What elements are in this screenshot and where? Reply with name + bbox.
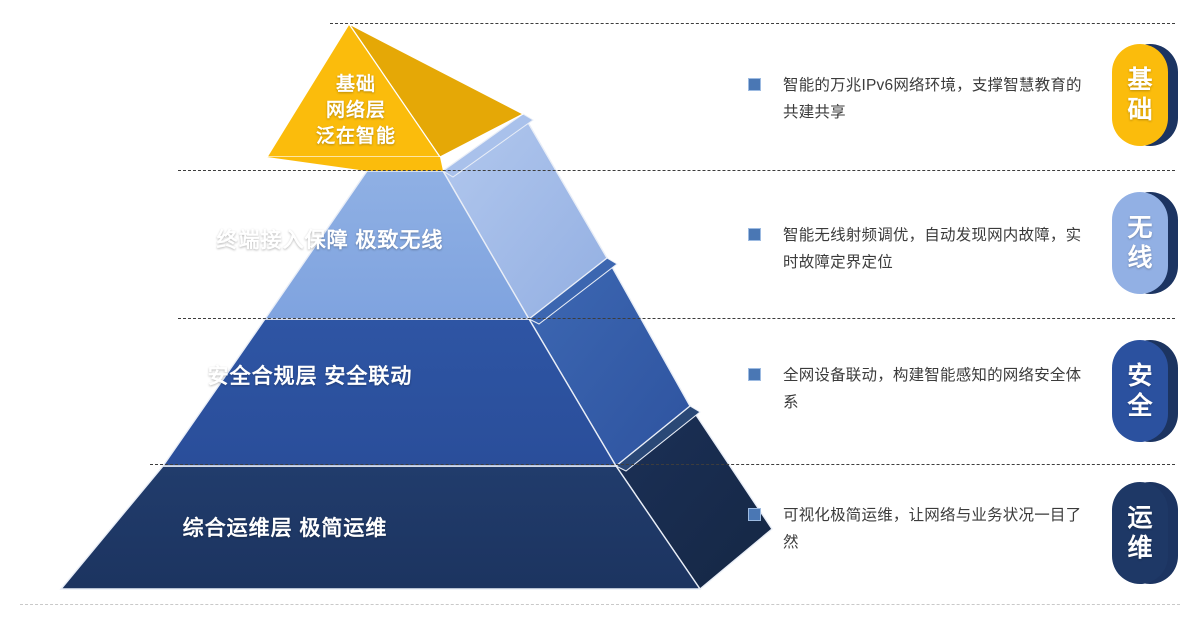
description-row-wireless: 智能无线射频调优，自动发现网内故障，实时故障定界定位 (748, 222, 1088, 276)
description-text-foundation: 智能的万兆IPv6网络环境，支撑智慧教育的共建共享 (783, 72, 1088, 126)
divider-wireless-security (178, 318, 1175, 319)
bullet-square-icon (748, 368, 761, 381)
description-row-foundation: 智能的万兆IPv6网络环境，支撑智慧教育的共建共享 (748, 72, 1088, 126)
badge-foundation[interactable]: 基 础 (1112, 44, 1168, 146)
badge-foundation-char2: 础 (1127, 96, 1152, 124)
description-row-security: 全网设备联动，构建智能感知的网络安全体系 (748, 362, 1088, 416)
description-row-operations: 可视化极简运维，让网络与业务状况一目了然 (748, 502, 1088, 556)
divider-foundation-wireless (178, 170, 1175, 171)
description-text-security: 全网设备联动，构建智能感知的网络安全体系 (783, 362, 1088, 416)
badge-wireless-label: 无 线 (1127, 213, 1152, 273)
badge-operations[interactable]: 运 维 (1112, 482, 1168, 584)
badge-operations-char1: 运 (1127, 504, 1152, 532)
badge-security-label: 安 全 (1127, 361, 1152, 421)
diagram-canvas: 基础 网络层 泛在智能 终端接入保障 极致无线 安全合规层 安全联动 综合运维层… (0, 0, 1200, 620)
badge-wireless-char1: 无 (1127, 214, 1152, 242)
divider-security-operations (150, 464, 1175, 465)
badge-operations-label: 运 维 (1127, 503, 1152, 563)
badge-foundation-char1: 基 (1127, 66, 1152, 94)
badge-wireless[interactable]: 无 线 (1112, 192, 1168, 294)
divider-top (330, 23, 1175, 24)
badge-security-char2: 全 (1127, 392, 1152, 420)
divider-bottom (20, 604, 1180, 605)
bullet-square-icon (748, 228, 761, 241)
badge-security[interactable]: 安 全 (1112, 340, 1168, 442)
bullet-square-icon (748, 508, 761, 521)
badge-foundation-label: 基 础 (1127, 65, 1152, 125)
description-text-wireless: 智能无线射频调优，自动发现网内故障，实时故障定界定位 (783, 222, 1088, 276)
bullet-square-icon (748, 78, 761, 91)
badge-operations-char2: 维 (1127, 534, 1152, 562)
badge-wireless-char2: 线 (1127, 244, 1152, 272)
description-text-operations: 可视化极简运维，让网络与业务状况一目了然 (783, 502, 1088, 556)
badge-security-char1: 安 (1127, 362, 1152, 390)
